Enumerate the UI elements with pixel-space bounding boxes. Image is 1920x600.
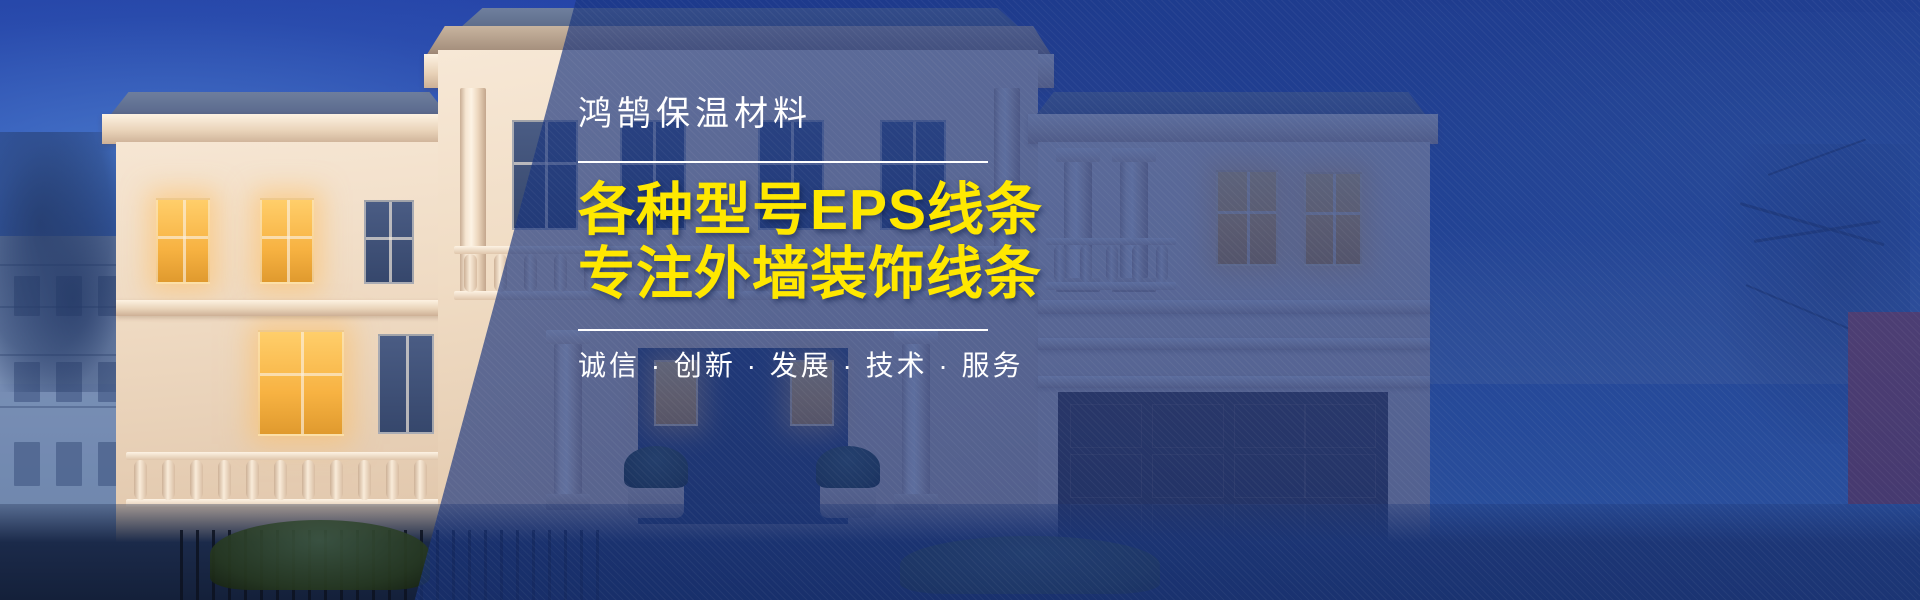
divider-top	[578, 161, 988, 163]
balustrade-left	[126, 452, 446, 508]
window-lit	[156, 198, 210, 284]
brand-name: 鸿鹄保温材料	[578, 96, 1008, 133]
tagline: 诚信 · 创新 · 发展 · 技术 · 服务	[578, 349, 1008, 383]
hedge	[210, 520, 430, 590]
window-dim	[364, 200, 414, 284]
left-wing-mid-cornice	[116, 300, 446, 316]
window-lit	[260, 198, 314, 284]
headline-line-2: 专注外墙装饰线条	[578, 243, 1008, 307]
left-wing-cornice	[102, 114, 458, 144]
window-dim	[378, 334, 434, 434]
hero-banner: 鸿鹄保温材料 各种型号EPS线条 专注外墙装饰线条 诚信 · 创新 · 发展 ·…	[0, 0, 1920, 600]
headline-line-1: 各种型号EPS线条	[578, 179, 1008, 243]
window-lit	[258, 330, 344, 436]
divider-bottom	[578, 329, 988, 331]
banner-copy: 鸿鹄保温材料 各种型号EPS线条 专注外墙装饰线条 诚信 · 创新 · 发展 ·…	[578, 96, 1008, 383]
